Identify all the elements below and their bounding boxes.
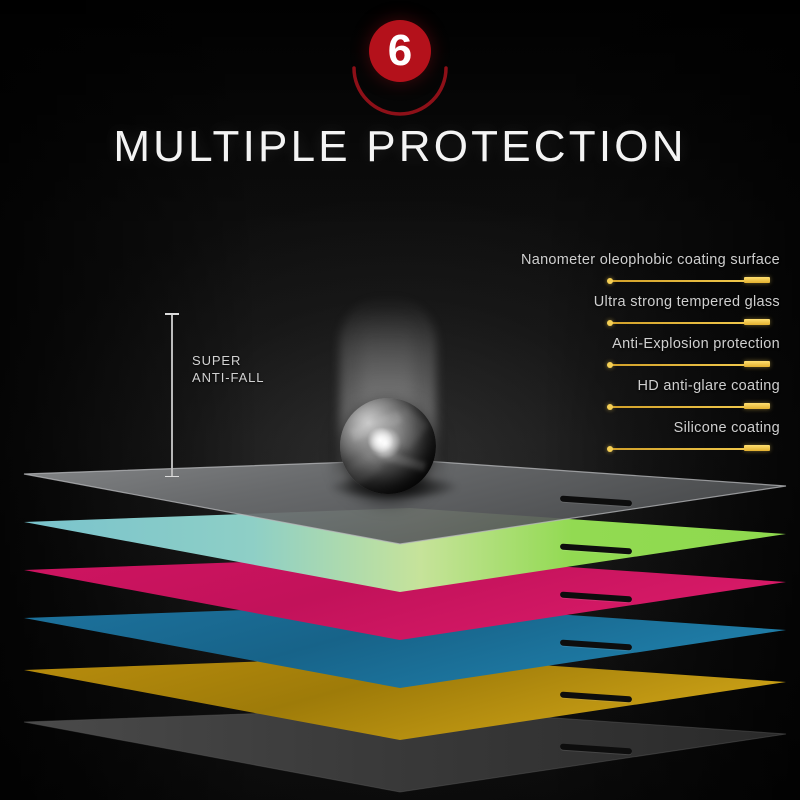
page-title: MULTIPLE PROTECTION: [0, 122, 800, 172]
rule-cap-icon: [744, 403, 770, 409]
rule-cap-icon: [744, 445, 770, 451]
feature-label: Nanometer oleophobic coating surface: [330, 252, 780, 268]
dimension-cap-bottom: [165, 476, 179, 478]
feature-label: Ultra strong tempered glass: [330, 294, 780, 310]
dimension-line-stem: [171, 314, 173, 476]
feature-rule-icon: [607, 403, 770, 410]
feature-rule-icon: [607, 319, 770, 326]
feature-item-3: HD anti-glare coating: [330, 378, 780, 420]
header-badge: 6: [0, 14, 800, 94]
feature-item-2: Anti-Explosion protection: [330, 336, 780, 378]
anti-fall-label-line2: ANTI-FALL: [192, 369, 264, 386]
feature-label: HD anti-glare coating: [330, 378, 780, 394]
rule-dot-icon: [607, 404, 613, 410]
dimension-line-icon: [165, 312, 179, 478]
feature-rule-icon: [607, 445, 770, 452]
rule-cap-icon: [744, 319, 770, 325]
anti-fall-label-line1: SUPER: [192, 352, 264, 369]
rule-dot-icon: [607, 278, 613, 284]
feature-rule-icon: [607, 361, 770, 368]
rule-dot-icon: [607, 446, 613, 452]
rule-cap-icon: [744, 277, 770, 283]
feature-label: Silicone coating: [330, 420, 780, 436]
feature-list: Nanometer oleophobic coating surface Ult…: [330, 252, 780, 462]
anti-fall-label: SUPER ANTI-FALL: [192, 352, 264, 386]
feature-rule-icon: [607, 277, 770, 284]
feature-label: Anti-Explosion protection: [330, 336, 780, 352]
rule-cap-icon: [744, 361, 770, 367]
feature-item-4: Silicone coating: [330, 420, 780, 462]
rule-dot-icon: [607, 320, 613, 326]
feature-item-1: Ultra strong tempered glass: [330, 294, 780, 336]
badge-number: 6: [369, 20, 431, 82]
feature-item-0: Nanometer oleophobic coating surface: [330, 252, 780, 294]
badge-circle-icon: 6: [369, 20, 431, 82]
rule-dot-icon: [607, 362, 613, 368]
promo-graphic-root: 6 MULTIPLE PROTECTION: [0, 0, 800, 800]
